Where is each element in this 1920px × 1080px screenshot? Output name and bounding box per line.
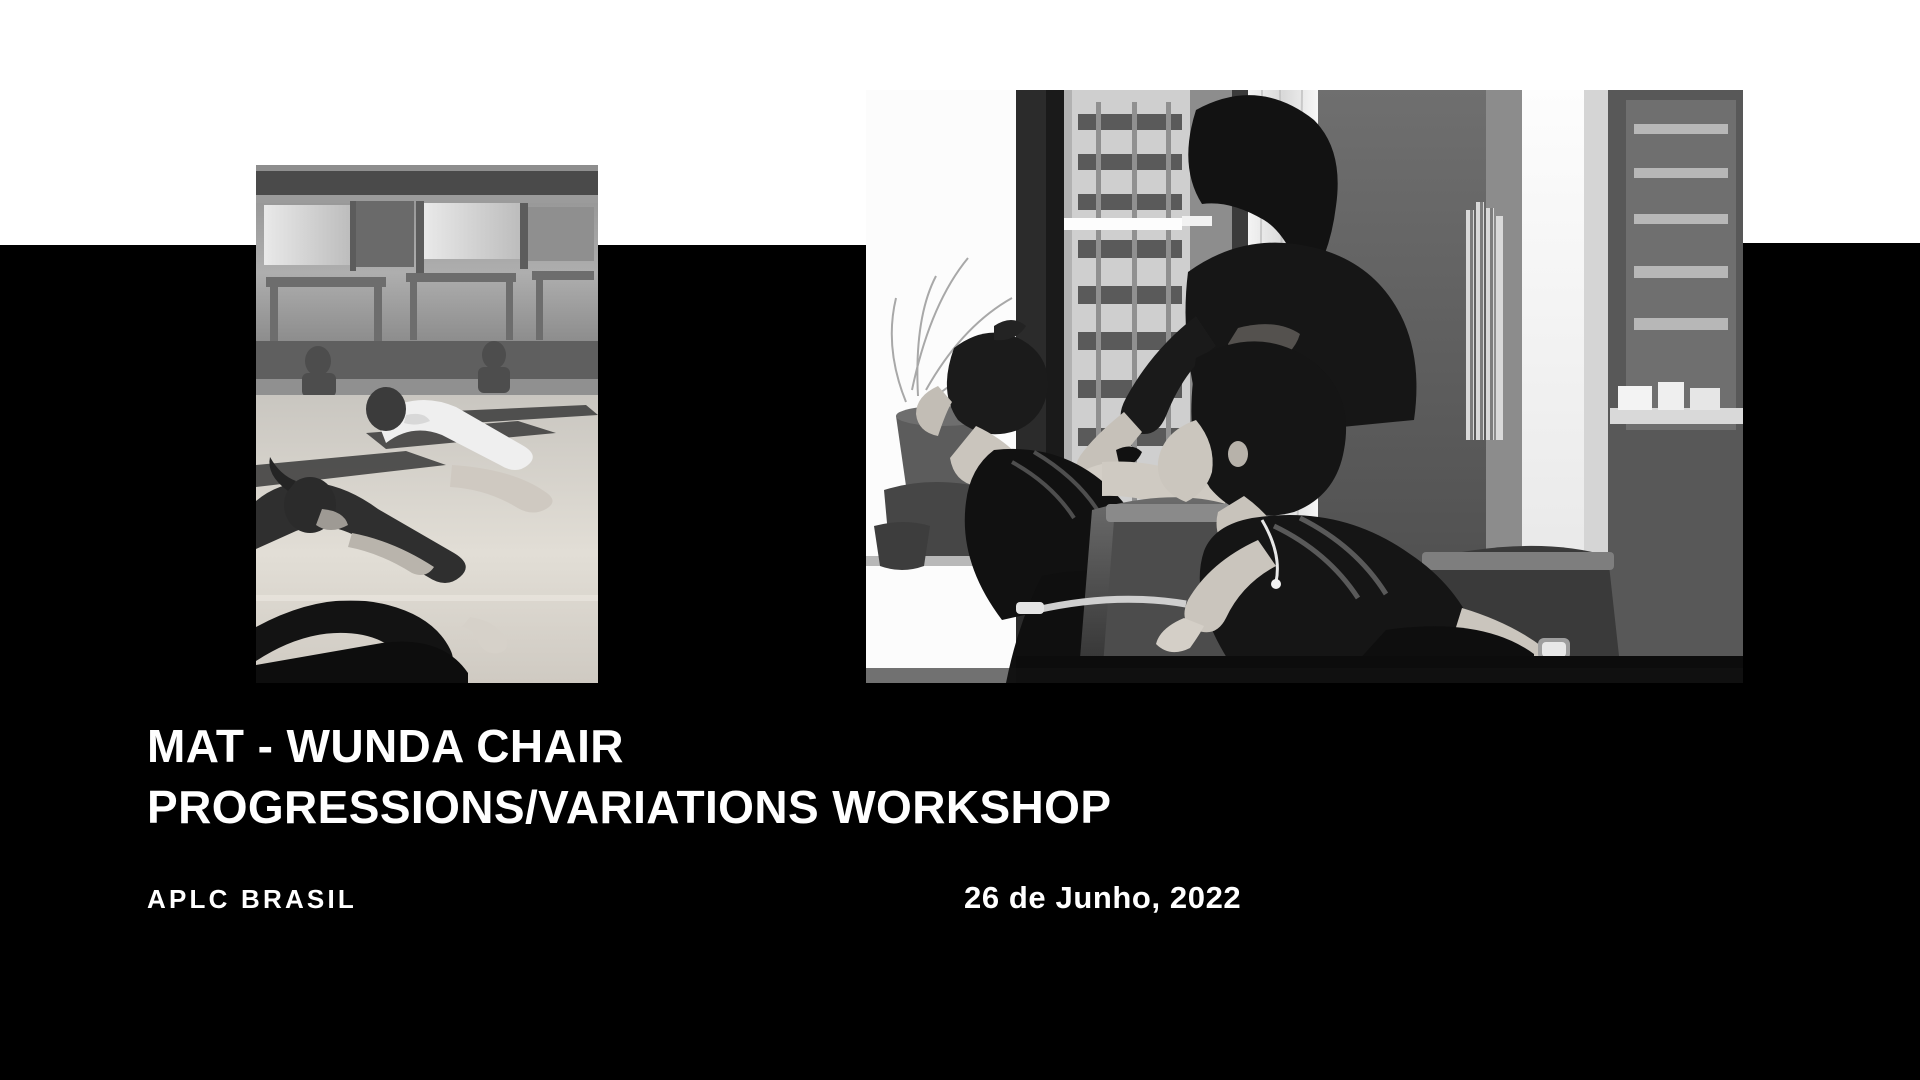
page-title: MAT - WUNDA CHAIR PROGRESSIONS/VARIATION… xyxy=(147,716,1111,838)
headline-line-1: MAT - WUNDA CHAIR xyxy=(147,716,1111,777)
wunda-chair-photo-graphic xyxy=(866,90,1743,683)
mat-class-photo-graphic xyxy=(256,165,598,683)
wunda-chair-photo xyxy=(866,90,1743,683)
meta-row: APLC BRASIL 26 de Junho, 2022 xyxy=(147,884,1307,924)
event-date: 26 de Junho, 2022 xyxy=(964,880,1241,916)
poster-canvas: MAT - WUNDA CHAIR PROGRESSIONS/VARIATION… xyxy=(0,0,1920,1080)
mat-class-photo xyxy=(256,165,598,683)
organization-name: APLC BRASIL xyxy=(147,884,357,915)
headline-line-2: PROGRESSIONS/VARIATIONS WORKSHOP xyxy=(147,777,1111,838)
